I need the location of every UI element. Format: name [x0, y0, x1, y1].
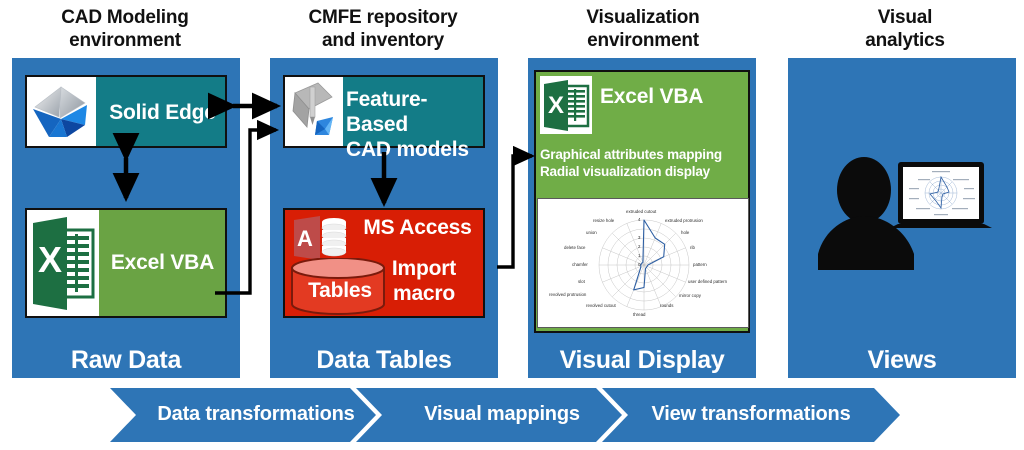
- box-visualization-subtext: Graphical attributes mapping Radial visu…: [540, 146, 754, 180]
- box-ms-access-label: MS Access: [355, 215, 480, 240]
- box-excel-vba-raw-label: Excel VBA: [100, 250, 225, 275]
- column-title-cad-line2: environment: [10, 29, 240, 52]
- panel-footer-raw-data: Raw Data: [12, 346, 240, 374]
- column-title-visualization-line2: environment: [528, 29, 758, 52]
- box-feature-based-cad-models-label: Feature-Based CAD models: [346, 87, 484, 162]
- radar-label-chamfer: chamfer: [572, 262, 588, 267]
- radar-label-resize-hole: resize hole: [593, 218, 614, 223]
- diagram-canvas: CAD Modeling environment CMFE repository…: [0, 0, 1024, 450]
- panel-footer-data-tables: Data Tables: [270, 346, 498, 374]
- radar-label-extruded-cutout: extruded cutout: [626, 209, 656, 214]
- radar-label-hole: hole: [681, 230, 689, 235]
- visualization-subtext-line1: Graphical attributes mapping: [540, 146, 754, 163]
- band-label-visual-mappings: Visual mappings: [382, 402, 622, 426]
- column-title-cmfe-line1: CMFE repository: [268, 6, 498, 29]
- column-title-cmfe-line2: and inventory: [268, 29, 498, 52]
- column-title-visual-analytics-line1: Visual: [790, 6, 1020, 29]
- radar-tick-1: 1: [638, 253, 640, 258]
- radar-tick-2: 2: [638, 244, 640, 249]
- excel-logo-glyph: X: [27, 210, 99, 316]
- cad-models-label-line2: CAD models: [346, 137, 484, 162]
- column-title-cmfe: CMFE repository and inventory: [268, 6, 498, 52]
- panel-footer-visual-display: Visual Display: [528, 346, 756, 374]
- band-label-data-transformations: Data transformations: [136, 402, 376, 426]
- radar-label-rounds: rounds: [660, 303, 673, 308]
- radar-label-mirror-copy: mirror copy: [679, 293, 701, 298]
- radar-label-thread: thread: [633, 312, 645, 317]
- radar-label-revolved-protrusion: revolved protrusion: [549, 292, 586, 297]
- visualization-subtext-line2: Radial visualization display: [540, 163, 754, 180]
- solid-edge-logo-glyph: [27, 77, 96, 146]
- radar-tick-4: 4: [638, 217, 640, 222]
- box-tables-label: Tables: [288, 278, 392, 303]
- column-title-visualization: Visualization environment: [528, 6, 758, 52]
- column-title-cad-line1: CAD Modeling: [10, 6, 240, 29]
- excel-logo-raw: X: [27, 210, 99, 316]
- excel-logo-visualization-glyph: X: [540, 76, 592, 134]
- svg-text:A: A: [297, 226, 313, 251]
- radar-tick-0: 0: [638, 262, 640, 267]
- box-excel-vba-visualization-label: Excel VBA: [600, 84, 745, 109]
- column-title-visual-analytics: Visual analytics: [790, 6, 1020, 52]
- solid-edge-logo: [27, 77, 96, 146]
- cad-model-icon-glyph: [285, 77, 343, 146]
- process-flow-band: Data transformations Visual mappings Vie…: [110, 388, 900, 442]
- radar-tick-3: 3: [638, 235, 640, 240]
- svg-text:X: X: [548, 92, 564, 119]
- cad-models-label-line1: Feature-Based: [346, 87, 484, 137]
- excel-logo-visualization: X: [540, 76, 592, 134]
- person-at-laptop-icon: [806, 150, 1006, 295]
- column-title-visual-analytics-line2: analytics: [790, 29, 1020, 52]
- column-title-cad: CAD Modeling environment: [10, 6, 240, 52]
- radar-label-rib: rib: [690, 245, 695, 250]
- radar-label-slot: slot: [578, 279, 585, 284]
- radar-label-extruded-protrusion: extruded protrusion: [665, 218, 703, 223]
- ms-access-logo-glyph: A: [290, 214, 352, 262]
- panel-footer-views: Views: [788, 346, 1016, 374]
- cad-model-icon: [285, 77, 343, 146]
- radar-label-pattern: pattern: [693, 262, 707, 267]
- radar-chart-svg: [538, 199, 749, 328]
- radar-label-revolved-cutout: revolved cutout: [586, 303, 616, 308]
- ms-access-logo: A: [290, 214, 352, 262]
- radar-label-union: union: [586, 230, 597, 235]
- column-title-visualization-line1: Visualization: [528, 6, 758, 29]
- svg-text:X: X: [38, 239, 62, 280]
- box-solid-edge-label: Solid Edge: [100, 100, 225, 125]
- radar-chart[interactable]: 0 1 2 3 4 extruded cutout extruded protr…: [537, 198, 749, 328]
- band-label-view-transformations: View transformations: [628, 402, 874, 426]
- radar-label-user-defined-pattern: user defined pattern: [688, 279, 727, 284]
- arrow-ms-access-to-visualization: [497, 156, 532, 267]
- radar-label-delete-face: delete face: [564, 245, 585, 250]
- person-at-laptop-glyph: [806, 150, 1006, 295]
